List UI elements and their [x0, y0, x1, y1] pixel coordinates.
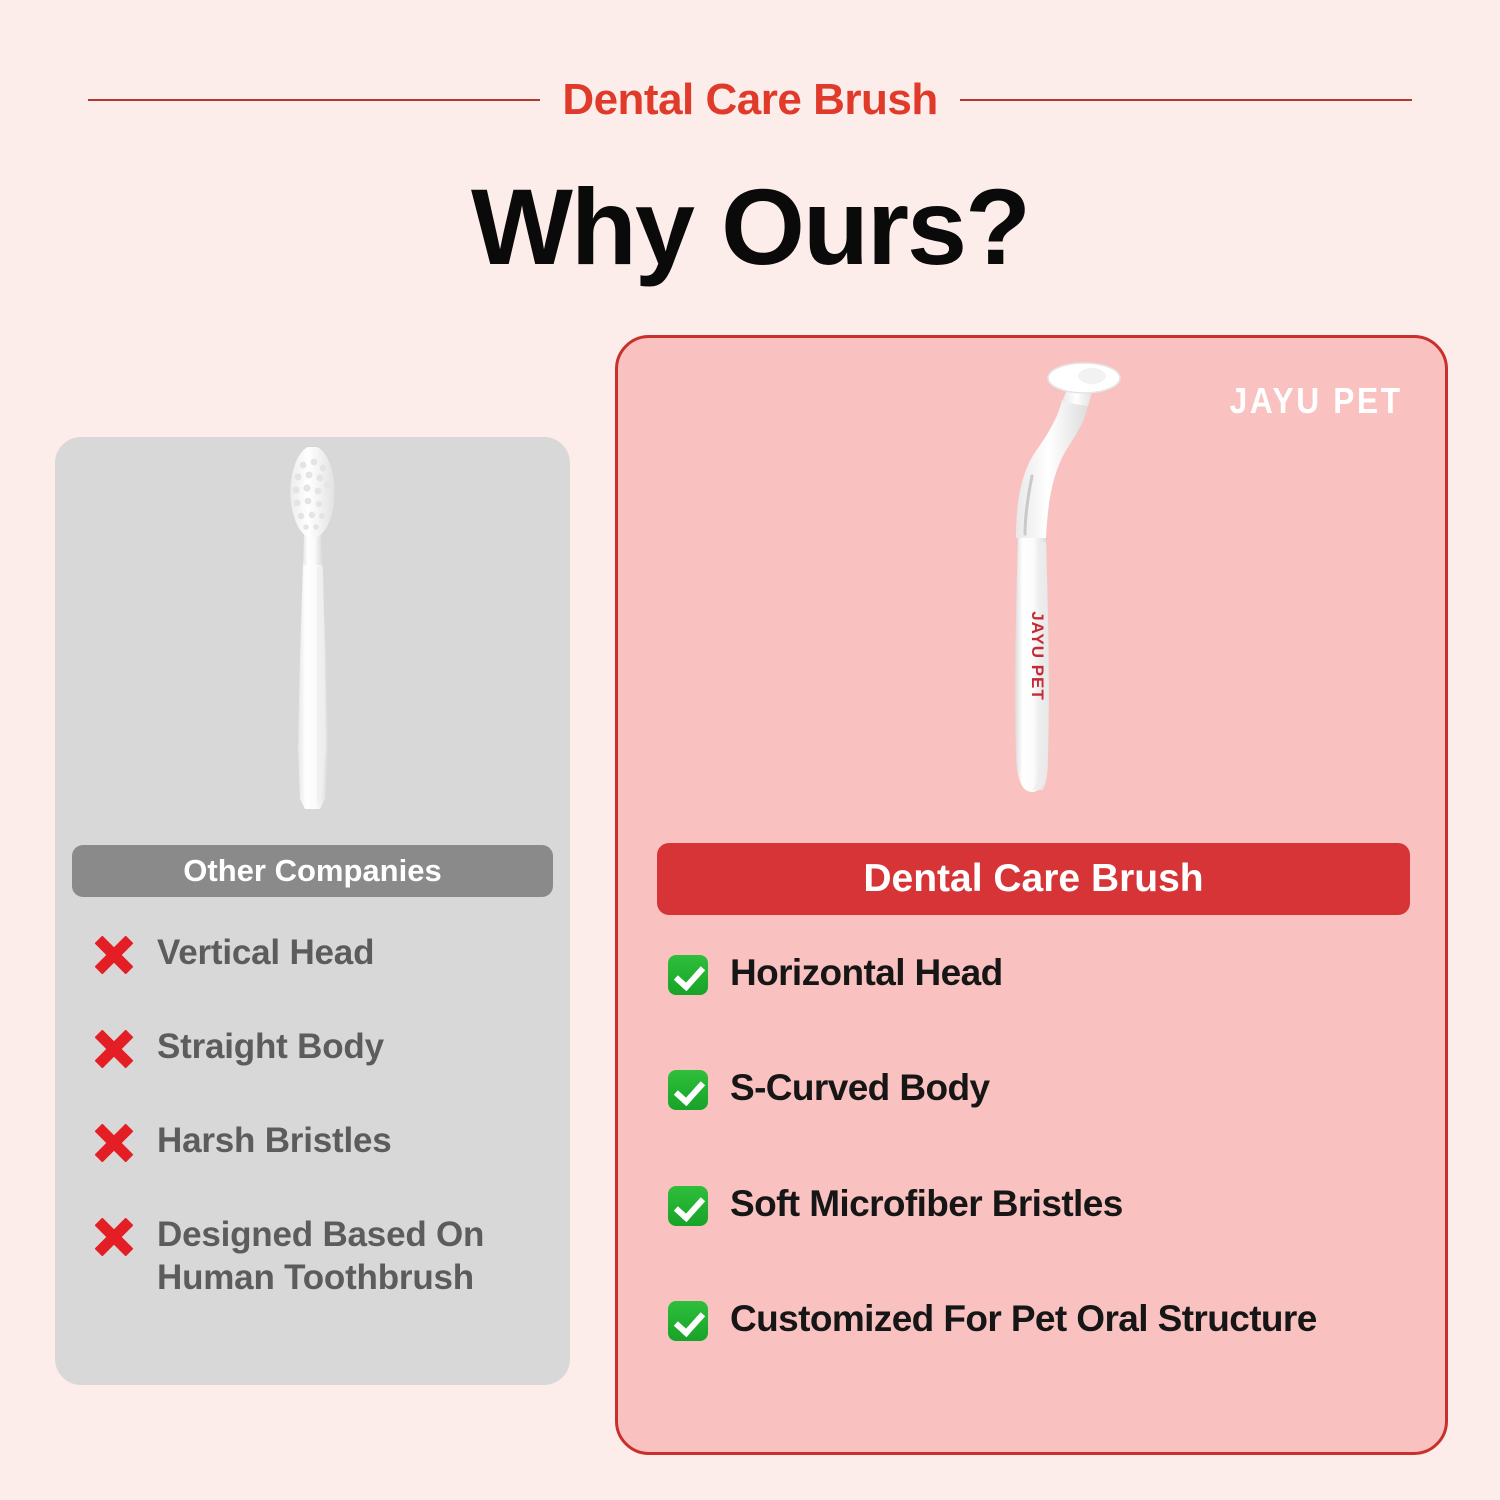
list-item: Horizontal Head [668, 951, 1448, 995]
other-companies-feature-list: Vertical Head Straight Body Harsh Bristl… [93, 932, 563, 1299]
feature-label: Horizontal Head [730, 951, 1003, 995]
cross-mark-icon [93, 1216, 135, 1258]
dental-care-brush-feature-list: Horizontal Head S-Curved Body Soft Micro… [668, 951, 1448, 1342]
list-item: Vertical Head [93, 932, 563, 976]
feature-label: Customized For Pet Oral Structure [730, 1297, 1317, 1341]
list-item: Soft Microfiber Bristles [668, 1182, 1448, 1226]
eyebrow-header: Dental Care Brush [88, 72, 1412, 128]
list-item: S-Curved Body [668, 1066, 1448, 1110]
check-mark-icon [668, 1070, 708, 1110]
check-mark-icon [668, 1186, 708, 1226]
dental-care-brush-panel: JAYU PET [615, 335, 1448, 1455]
check-mark-icon [668, 1301, 708, 1341]
list-item: Harsh Bristles [93, 1120, 563, 1164]
eyebrow-rule-left [88, 99, 540, 101]
feature-label: Designed Based On Human Toothbrush [157, 1214, 563, 1299]
cross-mark-icon [93, 934, 135, 976]
feature-label: Straight Body [157, 1026, 384, 1069]
handle-brand-print: JAYU PET [1028, 611, 1047, 701]
eyebrow-title: Dental Care Brush [562, 75, 937, 125]
cross-mark-icon [93, 1028, 135, 1070]
other-companies-panel: Other Companies Vertical Head Straight B… [55, 437, 570, 1385]
competitor-toothbrush-image [55, 447, 570, 847]
feature-label: S-Curved Body [730, 1066, 989, 1110]
eyebrow-rule-right [960, 99, 1412, 101]
feature-label: Harsh Bristles [157, 1120, 392, 1163]
list-item: Customized For Pet Oral Structure [668, 1297, 1448, 1341]
page-title: Why Ours? [0, 168, 1500, 287]
dental-care-brush-title: Dental Care Brush [657, 843, 1410, 915]
jayu-pet-toothbrush-image: JAYU PET [618, 356, 1451, 826]
cross-mark-icon [93, 1122, 135, 1164]
feature-label: Soft Microfiber Bristles [730, 1182, 1123, 1226]
list-item: Designed Based On Human Toothbrush [93, 1214, 563, 1299]
check-mark-icon [668, 955, 708, 995]
other-companies-title: Other Companies [72, 845, 553, 897]
list-item: Straight Body [93, 1026, 563, 1070]
feature-label: Vertical Head [157, 932, 374, 975]
